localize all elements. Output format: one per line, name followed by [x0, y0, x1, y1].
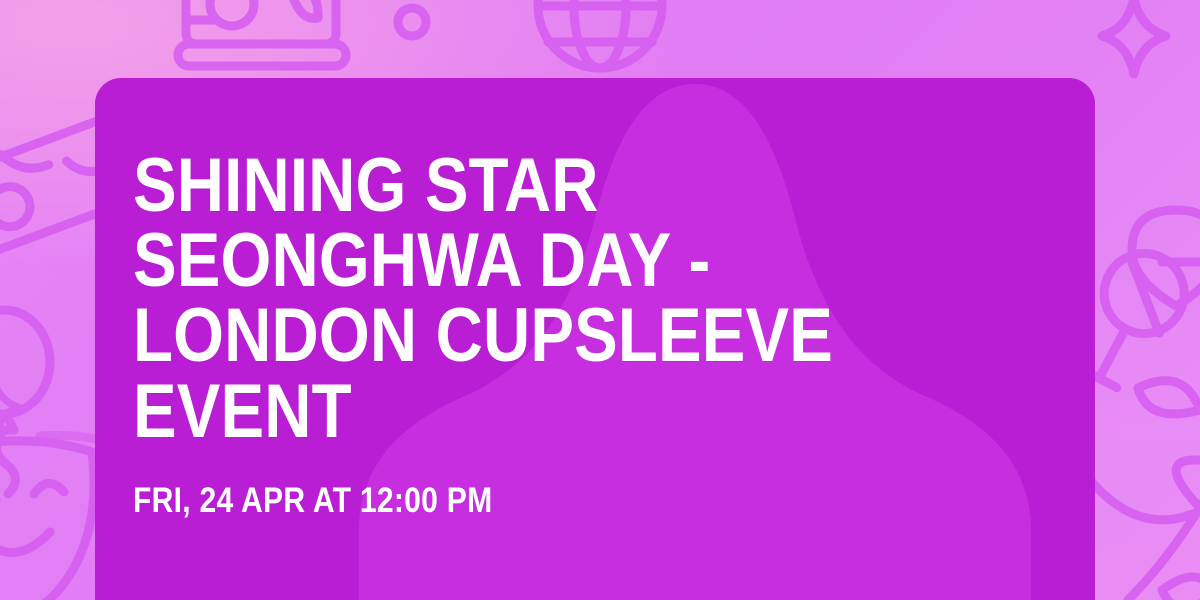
event-datetime: Fri, 24 Apr at 12:00 PM	[133, 483, 926, 518]
turntable-icon	[178, 0, 346, 66]
event-card: Shining Star Seonghwa Day - London Cupsl…	[95, 78, 1095, 600]
event-card-content: Shining Star Seonghwa Day - London Cupsl…	[133, 148, 1055, 518]
sparkle-icon	[1102, 0, 1166, 74]
circle-icon	[398, 8, 426, 36]
confetti-streamer-icon	[1082, 460, 1200, 600]
confetti-streamer-icon	[1138, 381, 1200, 414]
event-title: Shining Star Seonghwa Day - London Cupsl…	[133, 148, 926, 449]
globe-icon	[538, 0, 662, 68]
event-banner: Shining Star Seonghwa Day - London Cupsl…	[0, 0, 1200, 600]
